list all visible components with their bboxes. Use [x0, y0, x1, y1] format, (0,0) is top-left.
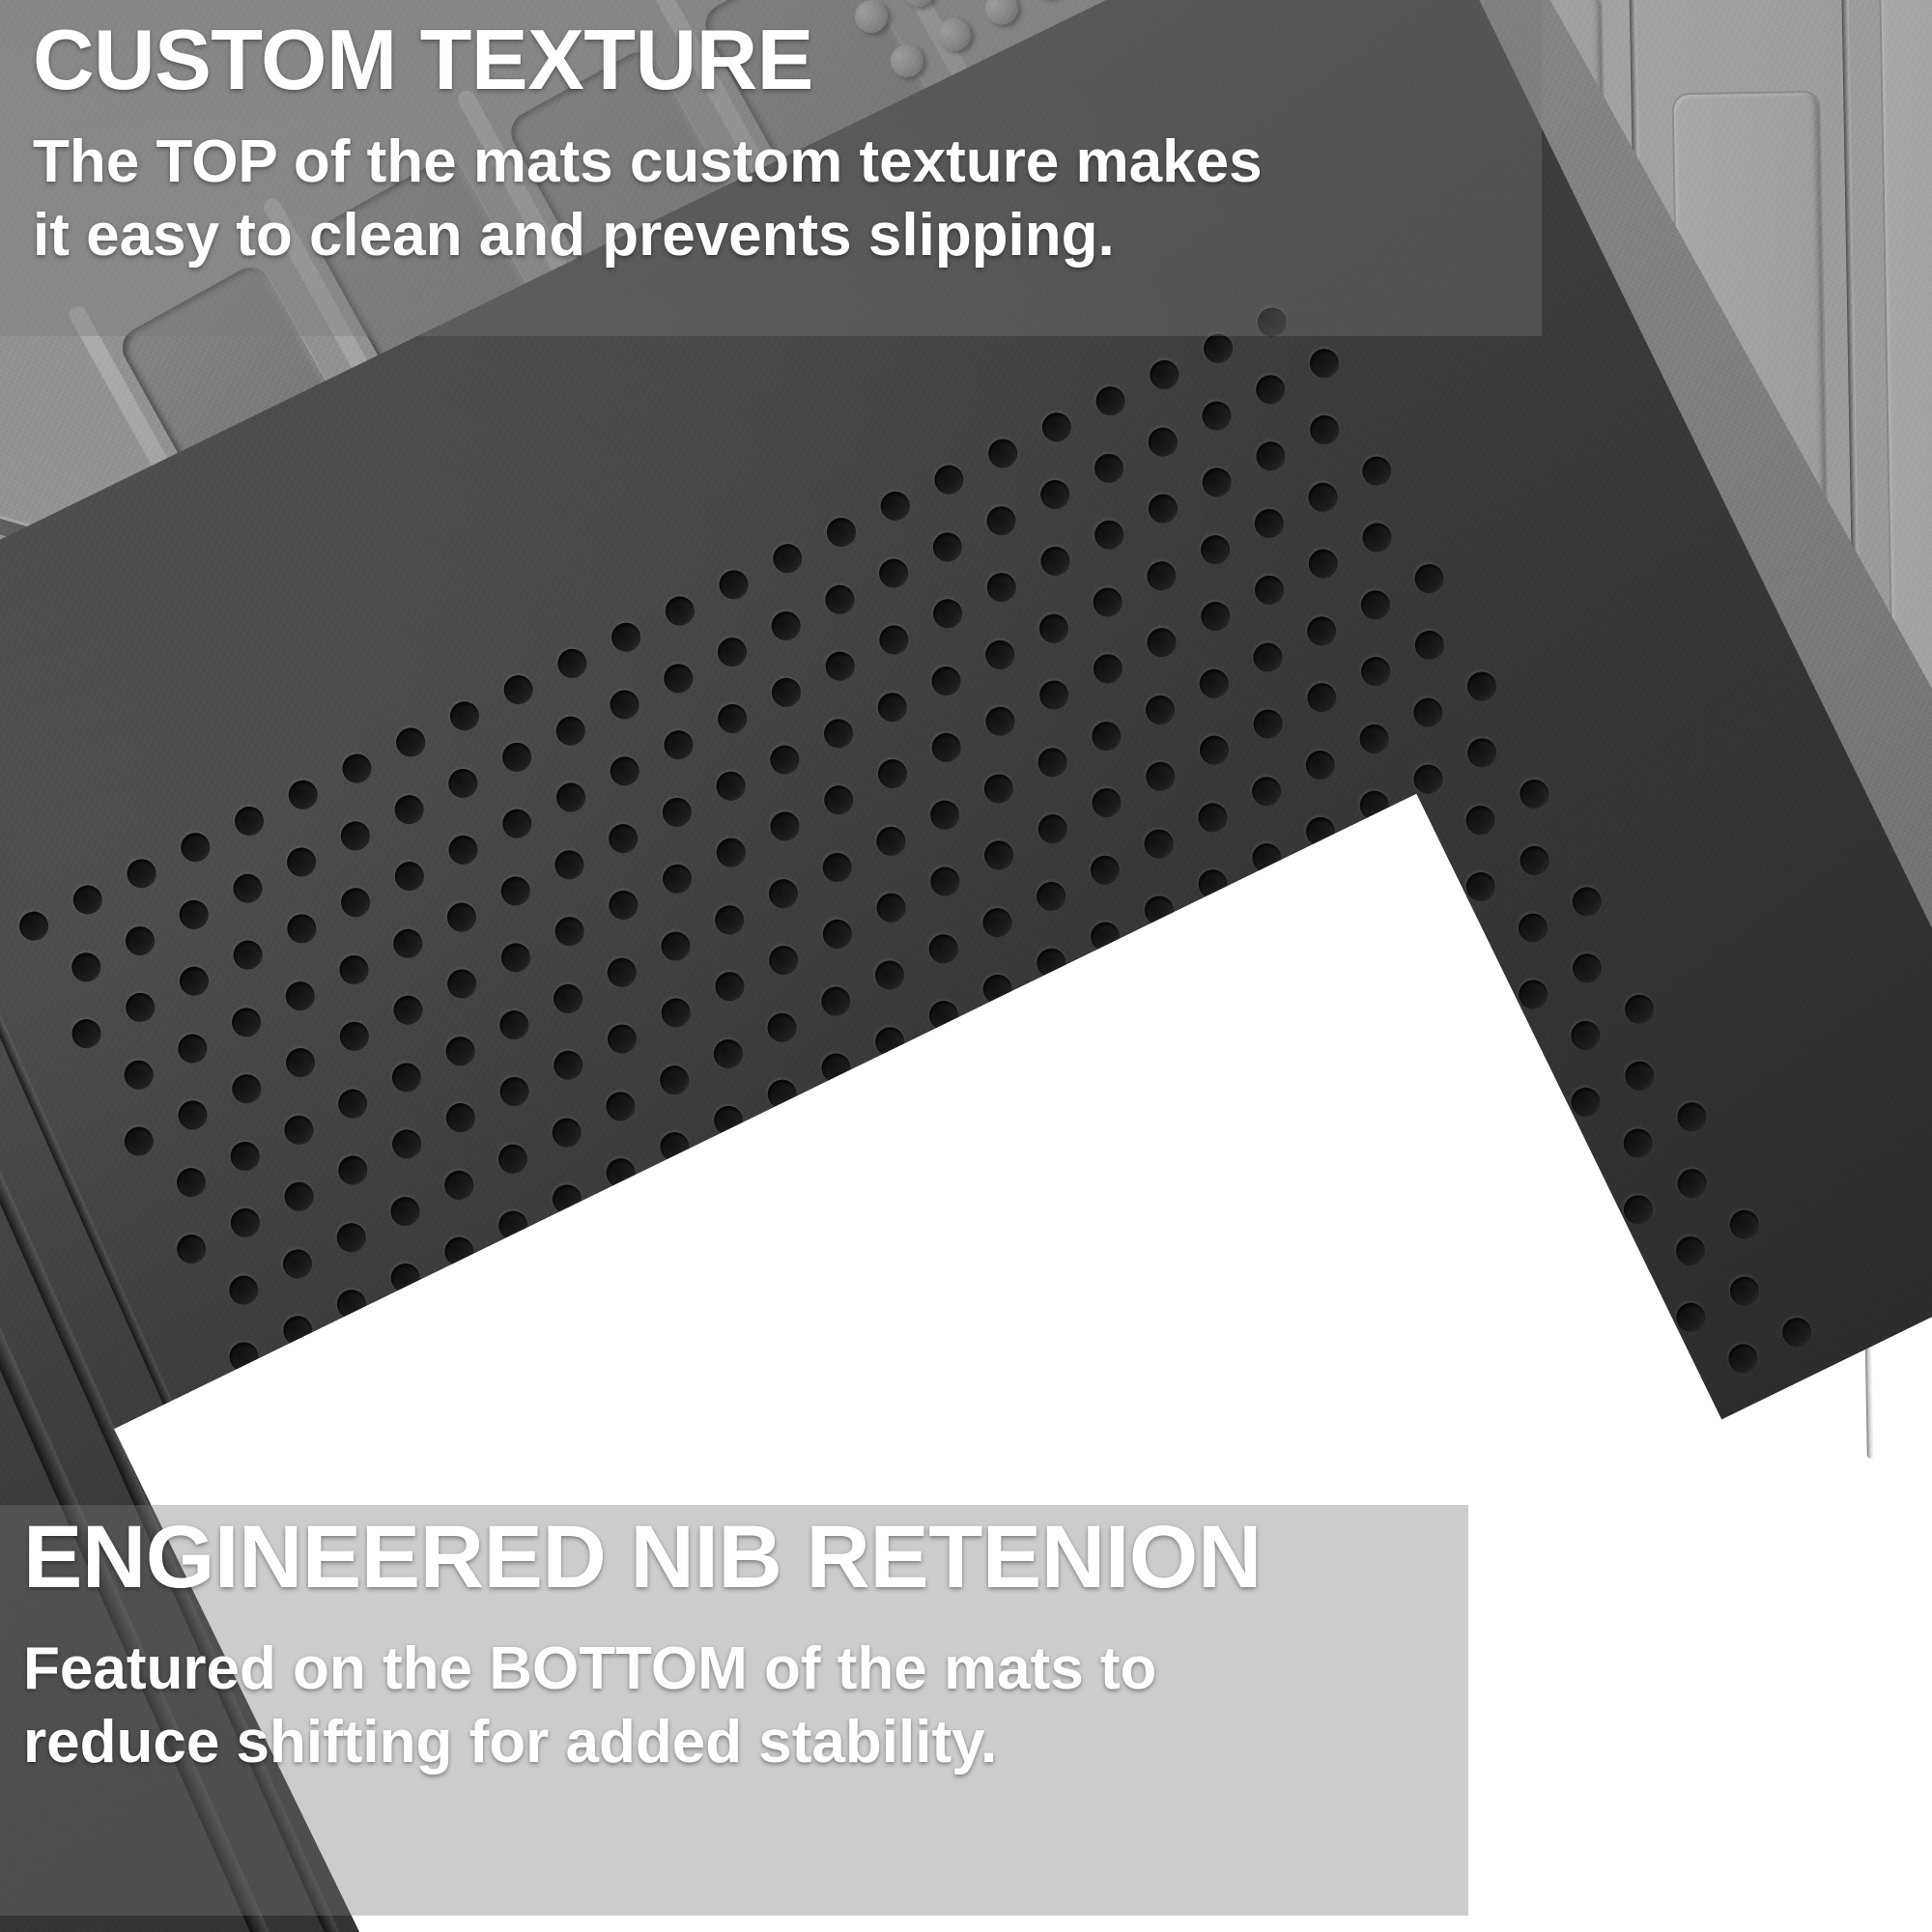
mat-perforation-hole: [387, 1058, 426, 1096]
mat-perforation-hole: [175, 962, 213, 1001]
mat-perforation-hole: [337, 750, 376, 788]
mat-perforation-hole: [226, 1204, 265, 1242]
mat-perforation-hole: [1777, 1313, 1816, 1351]
mat-perforation-hole: [928, 594, 967, 633]
mat-perforation-hole: [282, 909, 321, 948]
mat-perforation-hole: [497, 871, 535, 910]
mat-perforation-hole: [1089, 582, 1127, 621]
mat-perforation-hole: [713, 633, 752, 671]
mat-perforation-hole: [443, 764, 482, 803]
mat-perforation-hole: [1357, 518, 1396, 556]
mat-perforation-hole: [120, 1056, 158, 1094]
mat-perforation-hole: [980, 636, 1019, 674]
mat-perforation-hole: [494, 1140, 532, 1179]
mat-perforation-hole: [176, 828, 214, 867]
mat-perforation-hole: [1304, 545, 1343, 583]
mat-perforation-hole: [713, 699, 752, 738]
mat-perforation-hole: [603, 953, 641, 992]
mat-perforation-hole: [279, 1111, 318, 1150]
mat-perforation-hole: [390, 857, 429, 895]
mat-perforation-hole: [768, 539, 807, 578]
mat-perforation-hole: [1356, 652, 1395, 691]
mat-perforation-hole: [333, 1085, 372, 1123]
mat-perforation-hole: [227, 1069, 266, 1108]
mat-perforation-hole: [1568, 882, 1606, 921]
mat-perforation-hole: [497, 938, 535, 977]
mat-perforation-hole: [1463, 733, 1501, 772]
mat-perforation-hole: [174, 1095, 213, 1134]
mat-perforation-hole: [499, 670, 538, 709]
mat-perforation-hole: [603, 1020, 641, 1059]
mat-perforation-hole: [230, 802, 269, 840]
mat-perforation-hole: [816, 982, 855, 1021]
mat-perforation-hole: [1035, 610, 1073, 648]
mat-perforation-hole: [336, 883, 375, 922]
mat-perforation-hole: [121, 988, 159, 1027]
mat-perforation-hole: [497, 805, 536, 843]
mat-perforation-hole: [1249, 704, 1288, 743]
mat-perforation-hole: [927, 728, 966, 767]
mat-perforation-hole: [1145, 355, 1183, 394]
mat-perforation-hole: [929, 461, 968, 499]
mat-perforation-hole: [1248, 639, 1287, 677]
mat-perforation-hole: [925, 796, 964, 835]
mat-perforation-hole: [874, 554, 913, 593]
mat-perforation-hole: [1087, 783, 1125, 822]
mat-perforation-hole: [874, 620, 913, 659]
mat-perforation-hole: [120, 1122, 158, 1161]
mat-perforation-hole: [819, 781, 858, 819]
mat-perforation-hole: [765, 807, 804, 845]
mat-perforation-hole: [767, 673, 806, 712]
mat-perforation-hole: [67, 948, 105, 986]
mat-perforation-hole: [1140, 825, 1179, 864]
mat-perforation-hole: [121, 922, 159, 960]
mat-perforation-hole: [388, 991, 427, 1030]
top-body-line-1: The TOP of the mats custom texture makes: [33, 126, 1263, 199]
mat-perforation-hole: [1141, 757, 1179, 796]
mat-perforation-hole: [388, 924, 427, 963]
mat-perforation-hole: [1036, 475, 1074, 514]
mat-perforation-hole: [334, 951, 373, 989]
mat-perforation-hole: [763, 1009, 802, 1047]
mat-perforation-hole: [1725, 1272, 1764, 1311]
mat-perforation-hole: [1619, 1123, 1658, 1162]
mat-perforation-hole: [819, 714, 858, 753]
mat-perforation-hole: [1302, 611, 1341, 650]
mat-perforation-hole: [497, 738, 536, 777]
mat-perforation-hole: [495, 1072, 533, 1111]
mat-perforation-hole: [873, 688, 912, 726]
mat-perforation-hole: [332, 1218, 371, 1257]
mat-perforation-hole: [69, 880, 107, 919]
mat-perforation-hole: [709, 1035, 748, 1073]
mat-perforation-hole: [123, 854, 161, 893]
mat-perforation-hole: [1032, 877, 1070, 916]
mat-perforation-hole: [607, 618, 645, 657]
mat-perforation-hole: [550, 845, 588, 884]
mat-perforation-hole: [1196, 597, 1235, 636]
mat-perforation-hole: [442, 898, 481, 937]
mat-perforation-hole: [1516, 841, 1554, 880]
mat-perforation-hole: [1034, 810, 1072, 848]
mat-perforation-hole: [1197, 396, 1236, 435]
mat-perforation-hole: [387, 1124, 426, 1163]
mat-perforation-hole: [659, 659, 697, 697]
mat-perforation-hole: [1620, 990, 1659, 1029]
mat-perforation-hole: [444, 831, 483, 869]
mat-perforation-hole: [172, 1230, 211, 1268]
mat-perforation-hole: [551, 912, 589, 951]
mat-perforation-hole: [1198, 463, 1236, 501]
mat-perforation-hole: [980, 836, 1018, 874]
mat-perforation-hole: [714, 565, 753, 604]
mat-perforation-hole: [282, 842, 321, 881]
mat-perforation-hole: [441, 1098, 480, 1137]
bottom-body-line-2: reduce shifting for added stability.: [23, 1706, 1156, 1779]
mat-perforation-hole: [661, 591, 699, 630]
mat-perforation-hole: [1034, 743, 1072, 781]
mat-perforation-hole: [441, 1032, 480, 1070]
mat-perforation-hole: [1035, 675, 1073, 714]
mat-perforation-hole: [764, 874, 803, 913]
mat-perforation-hole: [1195, 665, 1234, 703]
mat-perforation-hole: [1195, 731, 1234, 770]
mat-perforation-hole: [280, 1178, 319, 1216]
mat-perforation-hole: [1515, 775, 1553, 813]
mat-perforation-hole: [980, 702, 1019, 741]
mat-perforation-hole: [224, 1271, 263, 1310]
mat-perforation-hole: [767, 607, 806, 645]
mat-perforation-hole: [764, 941, 803, 980]
mat-perforation-hole: [1566, 1016, 1605, 1055]
mat-perforation-hole: [659, 725, 697, 764]
mat-perforation-hole: [1092, 382, 1130, 420]
top-body-line-2: it easy to clean and prevents slipping.: [33, 199, 1263, 272]
mat-perforation-hole: [1036, 542, 1074, 581]
mat-perforation-hole: [983, 434, 1022, 472]
mat-perforation-hole: [822, 513, 861, 552]
mat-perforation-hole: [982, 568, 1021, 607]
mat-perforation-hole: [553, 644, 591, 683]
mat-perforation-hole: [333, 1151, 372, 1189]
mat-perforation-hole: [656, 926, 695, 965]
mat-perforation-hole: [548, 1113, 586, 1151]
mat-perforation-hole: [391, 723, 430, 761]
mat-perforation-hole: [281, 1043, 320, 1082]
mat-perforation-hole: [982, 501, 1021, 540]
mat-perforation-hole: [876, 487, 915, 526]
mat-perforation-hole: [1144, 489, 1182, 527]
mat-perforation-hole: [1302, 678, 1341, 717]
mat-perforation-hole: [605, 685, 643, 724]
mat-perforation-hole: [390, 790, 429, 829]
mat-perforation-hole: [606, 752, 644, 790]
mat-perforation-hole: [226, 1137, 265, 1176]
mat-perforation-hole: [1408, 759, 1447, 798]
mat-perforation-hole: [228, 869, 267, 908]
mat-perforation-hole: [1251, 370, 1290, 409]
mat-perforation-hole: [601, 1087, 639, 1125]
mat-perforation-hole: [1514, 909, 1552, 948]
mat-perforation-hole: [1723, 1339, 1762, 1378]
mat-perforation-hole: [385, 1192, 424, 1231]
mat-perforation-hole: [1251, 437, 1290, 475]
mat-perforation-hole: [172, 1163, 211, 1202]
mat-perforation-hole: [1408, 694, 1447, 732]
mat-perforation-hole: [924, 929, 963, 968]
mat-perforation-hole: [442, 964, 481, 1003]
mat-perforation-hole: [1250, 571, 1289, 610]
mat-perforation-hole: [1247, 772, 1286, 810]
mat-perforation-hole: [657, 993, 696, 1032]
mat-perforation-hole: [1086, 851, 1124, 890]
mat-perforation-hole: [1725, 1206, 1764, 1244]
mat-perforation-hole: [1301, 746, 1340, 784]
mat-perforation-hole: [1673, 1164, 1712, 1203]
mat-perforation-hole: [1304, 478, 1343, 517]
mat-perforation-hole: [821, 647, 860, 686]
mat-perforation-hole: [820, 581, 859, 619]
mat-perforation-hole: [1357, 452, 1396, 491]
mat-perforation-hole: [1250, 504, 1289, 543]
mat-perforation-hole: [818, 915, 857, 953]
mat-perforation-hole: [978, 903, 1016, 942]
mat-perforation-hole: [552, 778, 590, 816]
mat-perforation-hole: [712, 834, 751, 872]
mat-perforation-hole: [1037, 408, 1076, 446]
mat-perforation-hole: [655, 1061, 694, 1099]
mat-perforation-hole: [1410, 626, 1449, 665]
mat-perforation-hole: [1144, 423, 1182, 462]
mat-perforation-hole: [658, 860, 696, 898]
mat-perforation-hole: [552, 712, 590, 751]
mat-perforation-hole: [1356, 585, 1395, 624]
mat-perforation-hole: [1142, 556, 1180, 595]
mat-perforation-hole: [549, 980, 587, 1018]
mat-perforation-hole: [925, 862, 964, 900]
bottom-body-text: Featured on the BOTTOM of the mats to re…: [23, 1633, 1156, 1778]
mat-perforation-hole: [871, 822, 910, 861]
mat-perforation-hole: [335, 1017, 374, 1056]
mat-perforation-hole: [712, 767, 751, 806]
mat-perforation-hole: [870, 955, 909, 994]
mat-perforation-hole: [227, 1003, 266, 1041]
mat-perforation-hole: [604, 886, 642, 924]
mat-perforation-hole: [1090, 516, 1128, 554]
mat-perforation-hole: [872, 889, 911, 927]
mat-perforation-hole: [710, 900, 749, 939]
mat-perforation-hole: [1089, 649, 1127, 688]
mat-perforation-hole: [336, 816, 375, 855]
mat-perforation-hole: [1090, 449, 1128, 488]
mat-perforation-hole: [284, 776, 323, 814]
mat-perforation-hole: [926, 662, 965, 700]
mat-perforation-hole: [1463, 667, 1501, 705]
mat-perforation-hole: [1462, 801, 1500, 839]
mat-perforation-hole: [445, 696, 484, 735]
mat-perforation-hole: [1620, 1057, 1659, 1095]
bottom-headline: ENGINEERED NIB RETENION: [23, 1513, 1262, 1602]
mat-perforation-hole: [765, 741, 804, 780]
mat-perforation-hole: [1087, 717, 1125, 755]
mat-perforation-hole: [1305, 411, 1344, 449]
bottom-body-line-1: Featured on the BOTTOM of the mats to: [23, 1633, 1156, 1706]
mat-perforation-hole: [14, 907, 53, 946]
mat-perforation-hole: [495, 1006, 533, 1044]
mat-perforation-hole: [278, 1244, 317, 1283]
top-headline: CUSTOM TEXTURE: [33, 17, 813, 102]
mat-perforation-hole: [980, 769, 1018, 808]
mat-perforation-hole: [440, 1166, 478, 1205]
mat-perforation-hole: [928, 527, 967, 566]
mat-perforation-hole: [818, 848, 857, 887]
mat-perforation-hole: [1305, 344, 1344, 383]
mat-perforation-hole: [1193, 798, 1232, 837]
mat-perforation-hole: [175, 895, 213, 934]
mat-perforation-hole: [710, 967, 749, 1006]
mat-perforation-hole: [1568, 949, 1606, 987]
mat-perforation-hole: [67, 1014, 105, 1053]
mat-perforation-hole: [604, 819, 642, 858]
mat-perforation-hole: [229, 936, 268, 975]
mat-perforation-hole: [549, 1046, 587, 1085]
mat-perforation-hole: [173, 1029, 212, 1067]
mat-perforation-hole: [873, 754, 912, 793]
mat-perforation-hole: [1143, 623, 1181, 662]
mat-perforation-hole: [1410, 559, 1449, 598]
mat-perforation-hole: [1196, 530, 1235, 569]
mat-perforation-hole: [281, 977, 320, 1015]
mat-perforation-hole: [658, 793, 696, 832]
mat-perforation-hole: [1671, 1232, 1710, 1270]
mat-perforation-hole: [1672, 1097, 1711, 1136]
mat-perforation-hole: [1141, 691, 1179, 729]
mat-perforation-hole: [1355, 720, 1394, 758]
product-feature-image: CUSTOM TEXTURE The TOP of the mats custo…: [0, 0, 1932, 1932]
top-body-text: The TOP of the mats custom texture makes…: [33, 126, 1263, 271]
